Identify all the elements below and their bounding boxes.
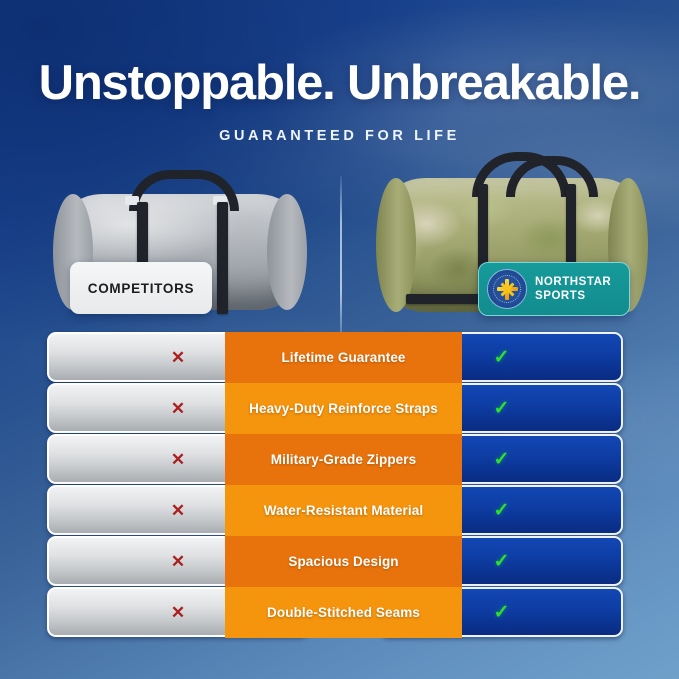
gray-duffel-end-right bbox=[267, 194, 307, 310]
check-icon: ✓ bbox=[494, 348, 510, 367]
camo-duffel-end-left bbox=[376, 178, 416, 312]
promo-comparison-graphic: Unstoppable. Unbreakable. GUARANTEED FOR… bbox=[0, 0, 679, 679]
cross-icon: ✕ bbox=[171, 553, 185, 570]
feature-label: Double-Stitched Seams bbox=[267, 605, 420, 621]
feature-label-cell: Spacious Design bbox=[225, 536, 462, 587]
cross-icon: ✕ bbox=[171, 349, 185, 366]
check-icon: ✓ bbox=[494, 603, 510, 622]
cross-icon: ✕ bbox=[171, 604, 185, 621]
northstar-badge-text: NORTHSTAR SPORTS bbox=[535, 275, 611, 303]
feature-label: Military-Grade Zippers bbox=[271, 452, 417, 468]
feature-label-cell: Heavy-Duty Reinforce Straps bbox=[225, 383, 462, 434]
feature-label: Lifetime Guarantee bbox=[281, 350, 405, 366]
cross-icon: ✕ bbox=[171, 502, 185, 519]
column-divider bbox=[340, 176, 342, 336]
feature-label-band: Lifetime Guarantee Heavy-Duty Reinforce … bbox=[225, 332, 462, 638]
check-icon: ✓ bbox=[494, 450, 510, 469]
feature-label: Heavy-Duty Reinforce Straps bbox=[249, 401, 438, 417]
northstar-badge: NORTHSTAR SPORTS bbox=[478, 262, 630, 316]
cross-icon: ✕ bbox=[171, 400, 185, 417]
brand-name-line1: NORTHSTAR bbox=[535, 275, 611, 289]
check-icon: ✓ bbox=[494, 399, 510, 418]
competitors-badge-label: COMPETITORS bbox=[88, 281, 194, 296]
northstar-logo-icon bbox=[487, 269, 527, 309]
feature-label-cell: Water-Resistant Material bbox=[225, 485, 462, 536]
check-icon: ✓ bbox=[494, 552, 510, 571]
feature-label: Water-Resistant Material bbox=[264, 503, 423, 519]
brand-name-line2: SPORTS bbox=[535, 289, 611, 303]
feature-label-cell: Double-Stitched Seams bbox=[225, 587, 462, 638]
page-title: Unstoppable. Unbreakable. bbox=[0, 56, 679, 110]
competitors-badge: COMPETITORS bbox=[70, 262, 212, 314]
feature-label: Spacious Design bbox=[288, 554, 398, 570]
starburst-icon bbox=[496, 278, 518, 300]
check-icon: ✓ bbox=[494, 501, 510, 520]
feature-label-cell: Military-Grade Zippers bbox=[225, 434, 462, 485]
gray-bag-strap bbox=[217, 202, 228, 314]
page-subtitle: GUARANTEED FOR LIFE bbox=[0, 128, 679, 144]
feature-label-cell: Lifetime Guarantee bbox=[225, 332, 462, 383]
cross-icon: ✕ bbox=[171, 451, 185, 468]
comparison-table: ✕ ✓ ✕ ✓ ✕ ✓ ✕ bbox=[0, 332, 679, 638]
